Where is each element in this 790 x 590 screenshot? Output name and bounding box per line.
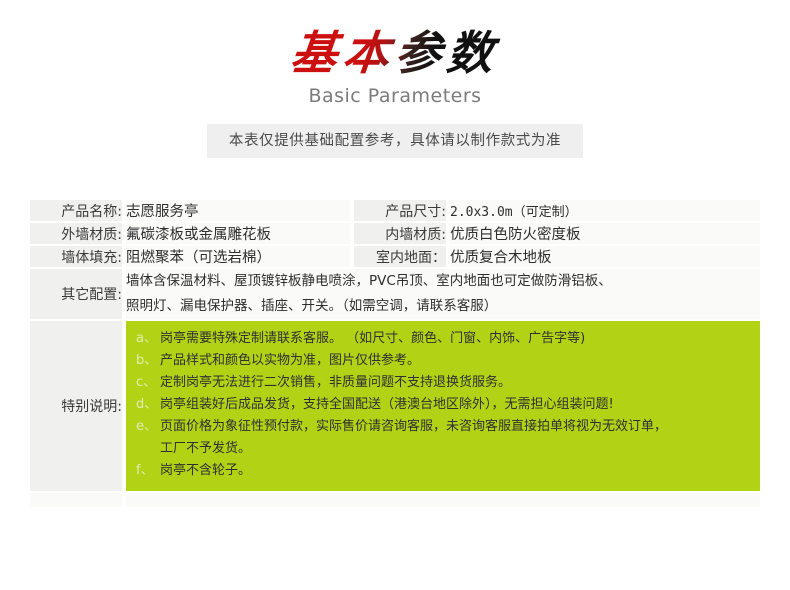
- row-value-product-size: 2.0x3.0m（可定制）: [450, 200, 760, 223]
- row-label-wall-filling: 墙体填充:: [30, 246, 122, 269]
- row-value-interior-wall-material: 优质白色防火密度板: [450, 223, 760, 246]
- other-config-line-2: 照明灯、漏电保护器、插座、开关。（如需空调，请联系客服）: [126, 294, 760, 319]
- note-marker: d、: [136, 394, 160, 416]
- row-label-interior-wall-material: 内墙材质:: [354, 223, 446, 246]
- note-marker: f、: [136, 460, 160, 482]
- special-notes-box: a、 岗亭需要特殊定制请联系客服。 （如尺寸、颜色、门窗、内饰、广告字等) b、…: [126, 321, 760, 491]
- row-label-exterior-wall-material: 外墙材质:: [30, 223, 122, 246]
- note-marker: b、: [136, 350, 160, 372]
- list-item: d、 岗亭组装好后成品发货，支持全国配送（港澳台地区除外），无需担心组装问题!: [136, 394, 748, 416]
- list-item: b、 产品样式和颜色以实物为准，图片仅供参考。: [136, 350, 748, 372]
- row-value-wall-filling: 阻燃聚苯（可选岩棉）: [126, 246, 350, 269]
- list-item: e、 页面价格为象征性预付款，实际售价请咨询客服，未咨询客服直接拍单将视为无效订…: [136, 416, 748, 438]
- row-value-special-notes: a、 岗亭需要特殊定制请联系客服。 （如尺寸、颜色、门窗、内饰、广告字等) b、…: [126, 321, 760, 493]
- other-config-line-1: 墙体含保温材料、屋顶镀锌板静电喷涂，PVC吊顶、室内地面也可定做防滑铝板、: [126, 269, 760, 294]
- row-label-product-name: 产品名称:: [30, 200, 122, 223]
- table-row-special-notes: 特别说明: a、 岗亭需要特殊定制请联系客服。 （如尺寸、颜色、门窗、内饰、广告…: [30, 321, 760, 493]
- subtitle-strip-wrapper: 本表仅提供基础配置参考，具体请以制作款式为准: [0, 124, 790, 158]
- table-bottom-spacer-row: [30, 493, 760, 507]
- row-value-exterior-wall-material: 氟碳漆板或金属雕花板: [126, 223, 350, 246]
- spec-table: 产品名称: 志愿服务亭 产品尺寸: 2.0x3.0m（可定制） 外墙材质: 氟碳…: [30, 200, 760, 507]
- row-value-product-name: 志愿服务亭: [126, 200, 350, 223]
- page-title: 基本参数: [288, 24, 502, 82]
- list-item: c、 定制岗亭无法进行二次销售，非质量问题不支持退换货服务。: [136, 372, 748, 394]
- table-row: 墙体填充: 阻燃聚苯（可选岩棉） 室内地面： 优质复合木地板: [30, 246, 760, 269]
- note-marker: a、: [136, 328, 160, 350]
- page-header: 基本参数 Basic Parameters: [0, 0, 790, 108]
- row-label-indoor-floor: 室内地面：: [354, 246, 446, 269]
- note-text: 岗亭需要特殊定制请联系客服。 （如尺寸、颜色、门窗、内饰、广告字等): [160, 328, 748, 350]
- note-text: 页面价格为象征性预付款，实际售价请咨询客服，未咨询客服直接拍单将视为无效订单，: [160, 416, 748, 438]
- table-bottom-pad: [126, 493, 760, 507]
- note-text: 岗亭组装好后成品发货，支持全国配送（港澳台地区除外），无需担心组装问题!: [160, 394, 748, 416]
- page-subtitle-en: Basic Parameters: [0, 84, 790, 108]
- note-text: 定制岗亭无法进行二次销售，非质量问题不支持退换货服务。: [160, 372, 748, 394]
- note-text-continuation: 工厂不予发货。: [136, 438, 748, 460]
- note-marker: e、: [136, 416, 160, 438]
- subtitle-banner: 本表仅提供基础配置参考，具体请以制作款式为准: [207, 124, 583, 158]
- note-text: 产品样式和颜色以实物为准，图片仅供参考。: [160, 350, 748, 372]
- note-marker: c、: [136, 372, 160, 394]
- table-row-other-config: 其它配置: 墙体含保温材料、屋顶镀锌板静电喷涂，PVC吊顶、室内地面也可定做防滑…: [30, 269, 760, 321]
- row-value-indoor-floor: 优质复合木地板: [450, 246, 760, 269]
- row-label-product-size: 产品尺寸:: [354, 200, 446, 223]
- row-label-special-notes: 特别说明:: [30, 321, 122, 493]
- list-item: f、 岗亭不含轮子。: [136, 460, 748, 482]
- basic-parameters-page: { "header": { "title_cn": "基本参数", "title…: [0, 0, 790, 590]
- note-text: 岗亭不含轮子。: [160, 460, 748, 482]
- table-row: 外墙材质: 氟碳漆板或金属雕花板 内墙材质: 优质白色防火密度板: [30, 223, 760, 246]
- row-label-other-config: 其它配置:: [30, 269, 122, 321]
- table-row: 产品名称: 志愿服务亭 产品尺寸: 2.0x3.0m（可定制）: [30, 200, 760, 223]
- row-value-other-config: 墙体含保温材料、屋顶镀锌板静电喷涂，PVC吊顶、室内地面也可定做防滑铝板、 照明…: [126, 269, 760, 321]
- table-bottom-pad: [30, 493, 122, 507]
- list-item: a、 岗亭需要特殊定制请联系客服。 （如尺寸、颜色、门窗、内饰、广告字等): [136, 328, 748, 350]
